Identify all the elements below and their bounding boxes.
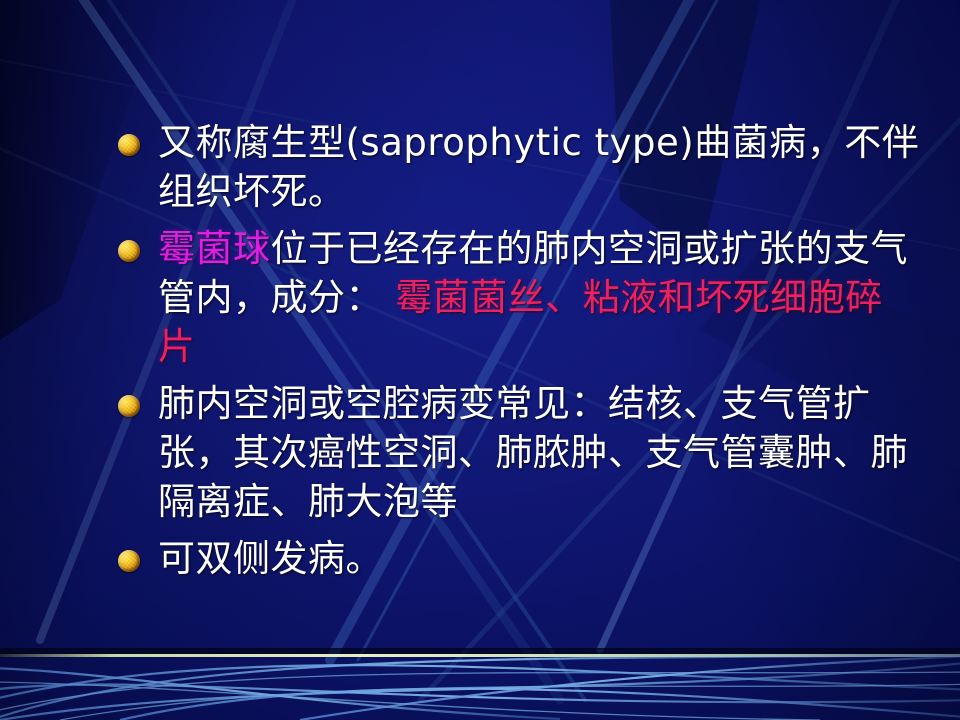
- gold-sphere-bullet-icon: [118, 134, 140, 156]
- bullet-item-2: 霉菌球位于已经存在的肺内空洞或扩张的支气管内，成分： 霉菌菌丝、粘液和坏死细胞碎…: [110, 224, 920, 371]
- bullet-2-segment-fungus-ball: 霉菌球: [158, 227, 271, 270]
- bullet-item-4: 可双侧发病。: [110, 534, 920, 583]
- bullet-item-3: 肺内空洞或空腔病变常见：结核、支气管扩张，其次癌性空洞、肺脓肿、支气管囊肿、肺隔…: [110, 379, 920, 526]
- gold-sphere-bullet-icon: [118, 395, 140, 417]
- presentation-slide: 又称腐生型(saprophytic type)曲菌病，不伴组织坏死。 霉菌球位于…: [0, 0, 960, 720]
- bullet-text-4: 可双侧发病。: [158, 534, 920, 583]
- bullet-text-1: 又称腐生型(saprophytic type)曲菌病，不伴组织坏死。: [158, 118, 920, 216]
- bullet-item-1: 又称腐生型(saprophytic type)曲菌病，不伴组织坏死。: [110, 118, 920, 216]
- bullet-3-segment-1: 肺内空洞或空腔病变常见：结核、支气管扩张，其次癌性空洞、肺脓肿、支气管囊肿、肺隔…: [158, 382, 908, 523]
- bullet-4-segment-1: 可双侧发病。: [158, 537, 383, 580]
- bullet-text-2: 霉菌球位于已经存在的肺内空洞或扩张的支气管内，成分： 霉菌菌丝、粘液和坏死细胞碎…: [158, 224, 920, 371]
- footer-divider-line: [0, 654, 960, 657]
- bullet-1-segment-1: 又称腐生型(saprophytic type)曲菌病，不伴组织坏死。: [158, 121, 919, 213]
- slide-content: 又称腐生型(saprophytic type)曲菌病，不伴组织坏死。 霉菌球位于…: [110, 118, 920, 583]
- gold-sphere-bullet-icon: [118, 550, 140, 572]
- bullet-text-3: 肺内空洞或空腔病变常见：结核、支气管扩张，其次癌性空洞、肺脓肿、支气管囊肿、肺隔…: [158, 379, 920, 526]
- gold-sphere-bullet-icon: [118, 240, 140, 262]
